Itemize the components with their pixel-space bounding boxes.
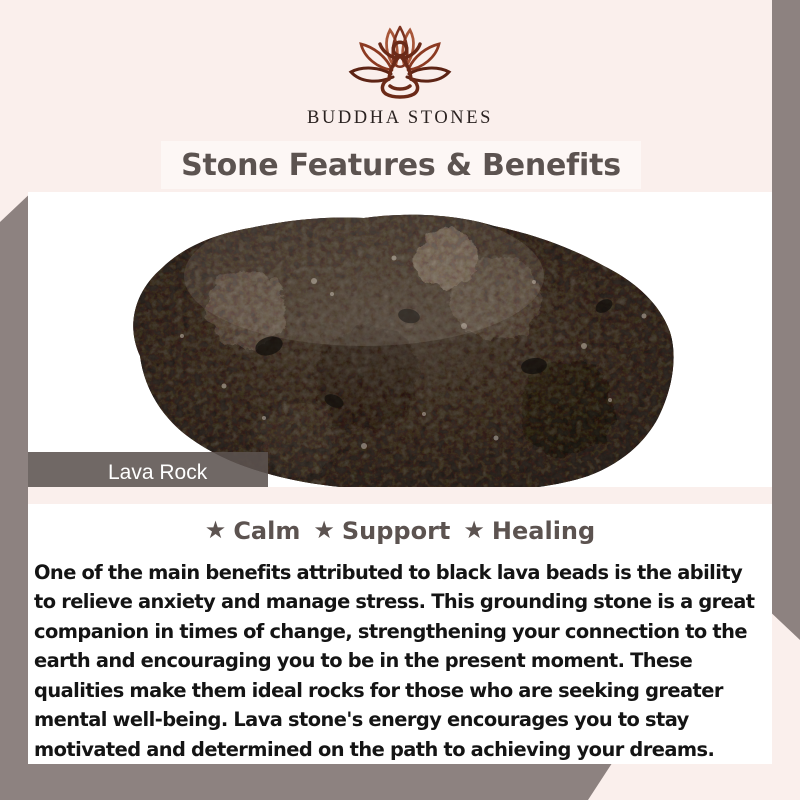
title-band: Stone Features & Benefits (161, 141, 641, 189)
brand-logo: BUDDHA STONES (28, 18, 772, 129)
keyword-list: ★ Calm ★ Support ★ Healing (28, 504, 772, 545)
keyword-item-healing: ★ Healing (463, 517, 595, 545)
keyword-item-support: ★ Support (313, 517, 450, 545)
star-icon: ★ (313, 519, 335, 543)
brand-name: BUDDHA STONES (307, 108, 493, 129)
card-inner: BUDDHA STONES Stone Features & Benefits (28, 0, 772, 764)
keyword-item-calm: ★ Calm (205, 517, 301, 545)
keyword-label: Support (342, 517, 451, 545)
body-paragraph: One of the main benefits attributed to b… (34, 558, 766, 764)
photo-area: Lava Rock (28, 192, 772, 487)
lava-rock-photo (64, 192, 736, 487)
stone-info-card: BUDDHA STONES Stone Features & Benefits (0, 0, 800, 800)
keyword-label: Calm (233, 517, 300, 545)
photo-text-separator (28, 487, 772, 504)
star-icon: ★ (463, 519, 485, 543)
page-title: Stone Features & Benefits (181, 148, 621, 183)
star-icon: ★ (205, 519, 227, 543)
photo-caption-label: Lava Rock (108, 461, 207, 485)
photo-caption-chip: Lava Rock (28, 452, 268, 487)
lotus-meditation-icon (334, 18, 466, 104)
keyword-label: Healing (492, 517, 595, 545)
body-area: ★ Calm ★ Support ★ Healing One of the ma… (28, 504, 772, 764)
